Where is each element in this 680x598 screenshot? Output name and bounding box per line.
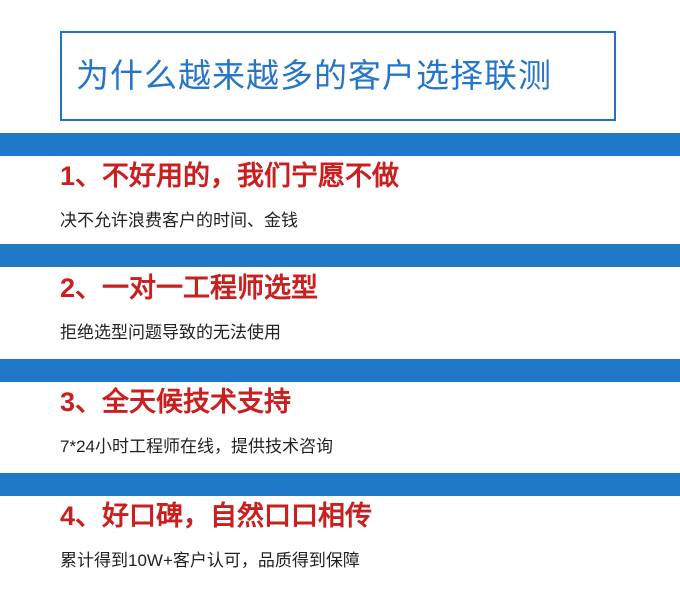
feature-subtitle-2: 拒绝选型问题导致的无法使用: [60, 306, 660, 344]
page-title: 为什么越来越多的客户选择联测: [62, 58, 552, 94]
feature-block-3: 3、全天候技术支持 7*24小时工程师在线，提供技术咨询: [60, 386, 660, 458]
feature-subtitle-3: 7*24小时工程师在线，提供技术咨询: [60, 420, 660, 458]
section-divider-bar-2: [0, 244, 680, 267]
feature-heading-3: 3、全天候技术支持: [60, 386, 660, 420]
feature-subtitle-4: 累计得到10W+客户认可，品质得到保障: [60, 534, 660, 572]
feature-heading-2: 2、一对一工程师选型: [60, 272, 660, 306]
feature-subtitle-1: 决不允许浪费客户的时间、金钱: [60, 194, 660, 232]
feature-block-1: 1、不好用的，我们宁愿不做 决不允许浪费客户的时间、金钱: [60, 160, 660, 232]
section-divider-bar-4: [0, 473, 680, 496]
feature-block-4: 4、好口碑，自然口口相传 累计得到10W+客户认可，品质得到保障: [60, 500, 660, 572]
section-divider-bar-3: [0, 359, 680, 382]
feature-heading-1: 1、不好用的，我们宁愿不做: [60, 160, 660, 194]
title-box: 为什么越来越多的客户选择联测: [60, 31, 616, 121]
feature-block-2: 2、一对一工程师选型 拒绝选型问题导致的无法使用: [60, 272, 660, 344]
promo-banner: 为什么越来越多的客户选择联测 1、不好用的，我们宁愿不做 决不允许浪费客户的时间…: [0, 0, 680, 598]
feature-heading-4: 4、好口碑，自然口口相传: [60, 500, 660, 534]
section-divider-bar-1: [0, 133, 680, 156]
